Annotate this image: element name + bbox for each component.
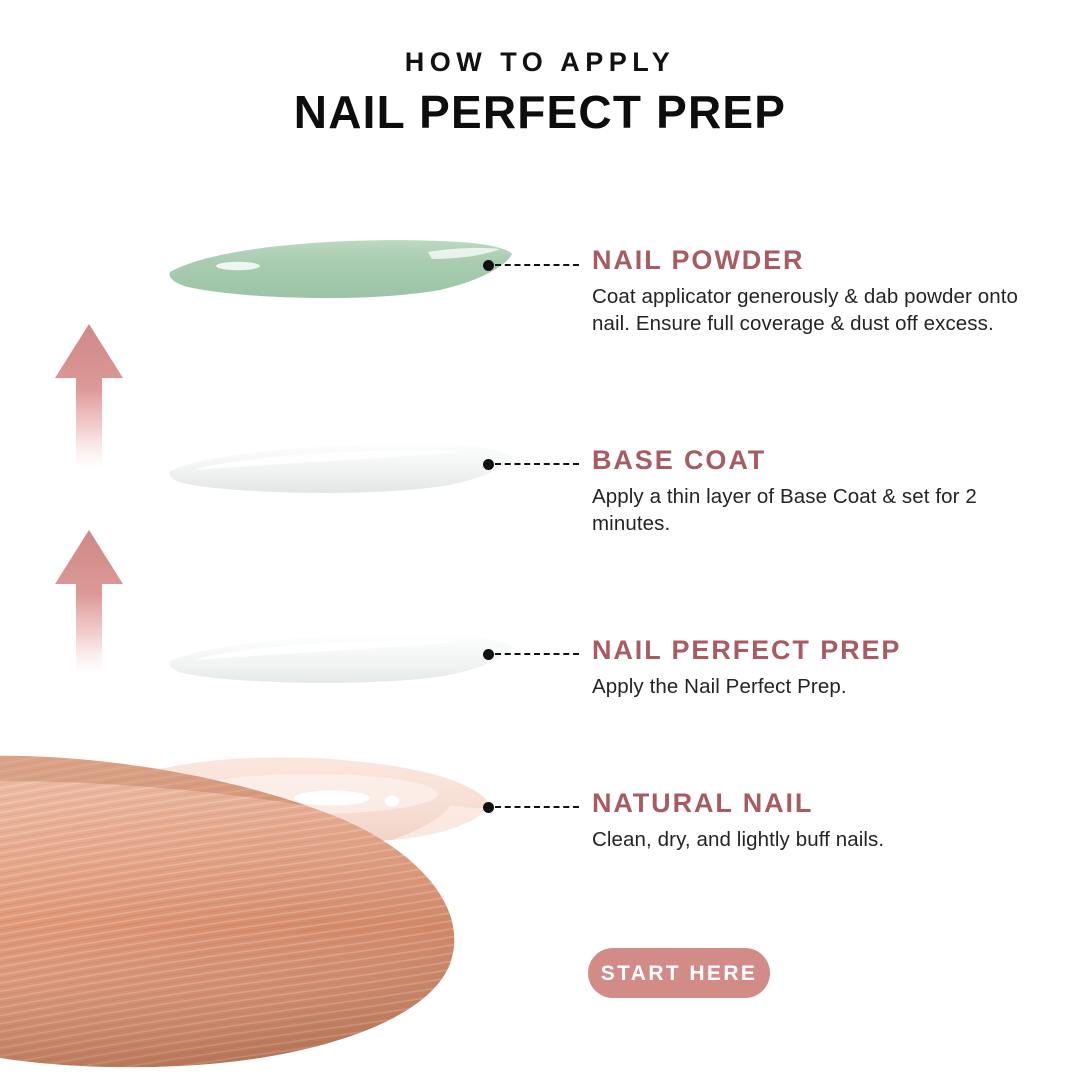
header: HOW TO APPLY NAIL PERFECT PREP [0,48,1080,136]
step-label-nail-perfect-prep: NAIL PERFECT PREP [592,636,1044,665]
base-coat-layer [164,443,512,495]
upward-flow-arrow-bottom [52,528,126,674]
step-label-base-coat: BASE COAT [592,446,1044,475]
step-label-natural-nail: NATURAL NAIL [592,789,1044,818]
leader-line-nail-perfect-prep [483,647,579,661]
step-text-natural-nail: NATURAL NAIL Clean, dry, and lightly buf… [592,789,1044,854]
step-label-nail-powder: NAIL POWDER [592,246,1044,275]
leader-line-natural-nail [483,800,579,814]
nail-perfect-prep-layer [164,633,512,685]
step-description-nail-perfect-prep: Apply the Nail Perfect Prep. [592,674,1044,700]
step-description-natural-nail: Clean, dry, and lightly buff nails. [592,827,1044,853]
leader-line-base-coat [483,457,579,471]
leader-dot [483,802,494,813]
leader-dash [495,264,579,266]
leader-dot [483,260,494,271]
leader-dash [495,653,579,655]
start-here-label: START HERE [601,963,758,984]
nail-powder-layer [160,236,512,302]
leader-dot [483,649,494,660]
step-description-nail-powder: Coat applicator generously & dab powder … [592,284,1044,337]
page-title: NAIL PERFECT PREP [0,88,1080,136]
header-kicker: HOW TO APPLY [0,48,1080,78]
leader-dot [483,459,494,470]
step-text-nail-powder: NAIL POWDER Coat applicator generously &… [592,246,1044,337]
leader-line-nail-powder [483,258,579,272]
infographic-canvas: HOW TO APPLY NAIL PERFECT PREP [0,0,1080,1080]
step-description-base-coat: Apply a thin layer of Base Coat & set fo… [592,484,1044,537]
step-text-base-coat: BASE COAT Apply a thin layer of Base Coa… [592,446,1044,537]
upward-flow-arrow-top [52,322,126,468]
step-text-nail-perfect-prep: NAIL PERFECT PREP Apply the Nail Perfect… [592,636,1044,701]
leader-dash [495,463,579,465]
start-here-button[interactable]: START HERE [588,948,770,998]
natural-nail-layer [0,740,520,1080]
leader-dash [495,806,579,808]
